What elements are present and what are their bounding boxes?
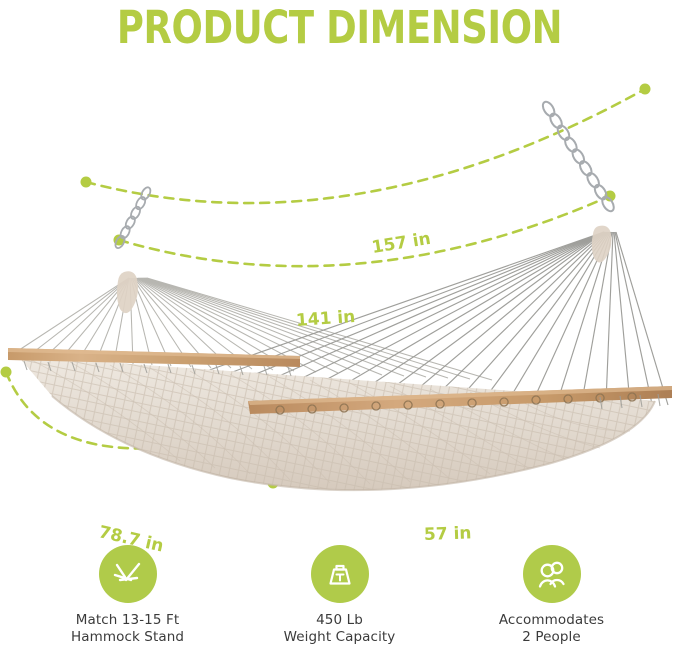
endpoint-787-top	[1, 367, 12, 378]
endpoint-157-left	[81, 177, 92, 188]
right-rope-knot	[592, 226, 612, 263]
rope-bed	[18, 356, 655, 490]
feature-accommodates: Accommodates 2 People	[446, 545, 658, 646]
feature-badge-3	[523, 545, 581, 603]
feature-caption-3-line1: Accommodates	[499, 612, 604, 628]
product-illustration: 157 in 141 in 78.7 in 57 in	[0, 56, 679, 530]
infographic-canvas: PRODUCT DIMENSION	[0, 0, 679, 663]
feature-caption-2: 450 Lb Weight Capacity	[284, 612, 396, 646]
feature-weight-capacity: 450 Lb Weight Capacity	[234, 545, 446, 646]
feature-caption-2-line1: 450 Lb	[316, 612, 363, 628]
dimension-label-141in: 141 in	[295, 307, 356, 331]
hammock-stand-icon	[110, 556, 146, 592]
feature-caption-1-line1: Match 13-15 Ft	[76, 612, 179, 628]
guide-157in	[86, 89, 645, 203]
page-title-bar: PRODUCT DIMENSION	[0, 0, 679, 56]
endpoint-157-right	[640, 84, 651, 95]
page-title: PRODUCT DIMENSION	[117, 5, 562, 51]
right-chain	[541, 100, 617, 213]
feature-badge-2	[311, 545, 369, 603]
feature-row: Match 13-15 Ft Hammock Stand	[0, 545, 679, 663]
feature-caption-2-line2: Weight Capacity	[284, 629, 396, 646]
feature-caption-3: Accommodates 2 People	[499, 612, 604, 646]
weight-icon	[323, 557, 357, 591]
feature-badge-1	[99, 545, 157, 603]
dimension-label-57in: 57 in	[424, 523, 472, 545]
left-rope-knot	[117, 271, 138, 313]
feature-caption-1: Match 13-15 Ft Hammock Stand	[71, 612, 184, 646]
two-people-icon	[534, 557, 570, 591]
feature-caption-1-line2: Hammock Stand	[71, 629, 184, 646]
feature-hammock-stand: Match 13-15 Ft Hammock Stand	[22, 545, 234, 646]
feature-caption-3-line2: 2 People	[499, 629, 604, 646]
